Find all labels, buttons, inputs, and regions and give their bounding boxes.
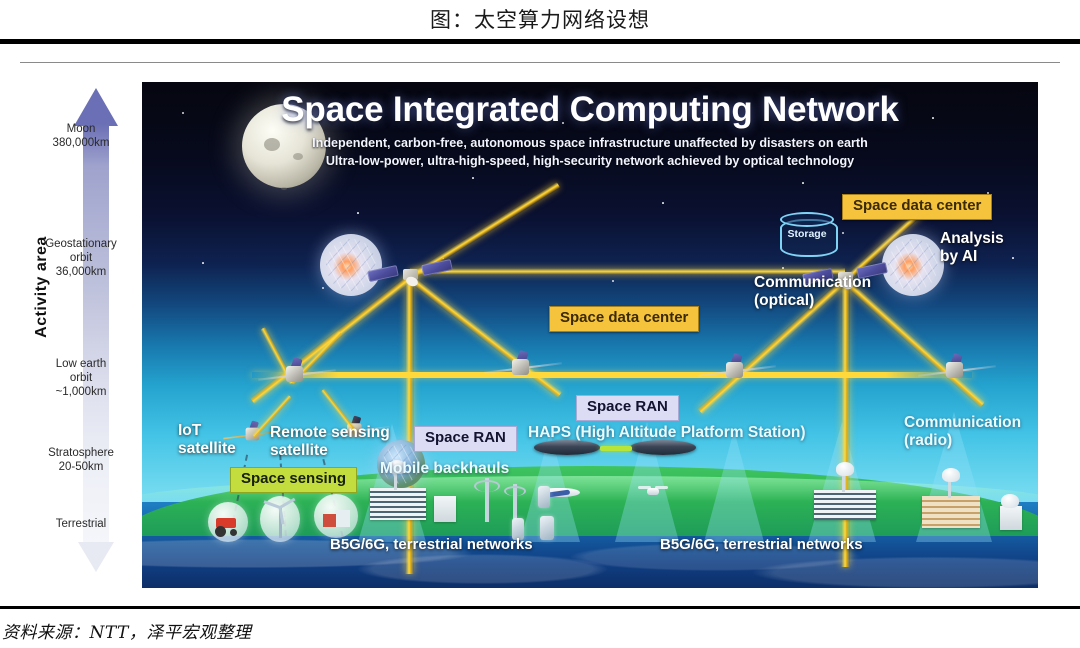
building-small — [1000, 506, 1022, 530]
divider-top-thin — [20, 62, 1060, 63]
axis-level-terrestrial-line1: Terrestrial — [20, 517, 142, 531]
factory-circle-icon — [314, 494, 358, 538]
source-note: 资料来源：NTT，泽平宏观整理 — [2, 618, 251, 643]
divider-bottom — [0, 606, 1080, 609]
optical-leo-ring-beam — [252, 372, 972, 378]
label-comm-radio-line2: (radio) — [904, 432, 1021, 450]
badge-space-ran-left[interactable]: Space RAN — [414, 426, 517, 452]
cell-tower-icon — [504, 482, 526, 522]
axis-level-strato-line2: 20-50km — [20, 460, 142, 474]
label-comm-radio-line1: Communication — [904, 414, 1021, 432]
axis-level-moon: Moon 380,000km — [20, 122, 142, 150]
axis-level-moon-line2: 380,000km — [20, 136, 142, 150]
storage-label: Storage — [780, 228, 834, 240]
label-comm-optical-line1: Communication — [754, 274, 871, 292]
axis-level-leo: Low earth orbit ~1,000km — [20, 357, 142, 399]
label-terrestrial-networks-left: B5G/6G, terrestrial networks — [330, 536, 533, 553]
label-communication-radio: Communication (radio) — [904, 414, 1021, 449]
building-right — [814, 490, 876, 520]
badge-space-ran-center[interactable]: Space RAN — [576, 395, 679, 421]
haps-airship-icon — [630, 440, 696, 455]
axis-level-leo-line1: Low earth — [20, 357, 142, 371]
cell-tower-icon — [474, 474, 500, 522]
axis-level-moon-line1: Moon — [20, 122, 142, 136]
divider-top-thick — [0, 39, 1080, 44]
haps-airship-icon — [534, 440, 600, 455]
building-right — [922, 496, 980, 528]
label-iot-line2: satellite — [178, 440, 236, 458]
storage-cylinder-icon: Storage — [780, 212, 834, 260]
smartphone-icon — [540, 516, 554, 540]
smartphone-icon — [538, 486, 550, 508]
axis-level-stratosphere: Stratosphere 20-50km — [20, 446, 142, 474]
activity-area-axis: Activity area Moon 380,000km Geostationa… — [20, 82, 142, 588]
scene-subtitle-2: Ultra-low-power, ultra-high-speed, high-… — [142, 154, 1038, 168]
optical-beam-vertical — [405, 274, 414, 574]
antenna-dome-icon — [836, 462, 854, 476]
illustration-frame: Storage — [142, 82, 1038, 588]
label-comm-optical-line2: (optical) — [754, 292, 871, 310]
label-iot-line1: IoT — [178, 422, 236, 440]
label-terrestrial-networks-right: B5G/6G, terrestrial networks — [660, 536, 863, 553]
label-analysis-by-ai: Analysis by AI — [940, 230, 1004, 265]
label-analysis-line2: by AI — [940, 248, 1004, 266]
badge-space-data-center-center[interactable]: Space data center — [549, 306, 699, 332]
axis-level-strato-line1: Stratosphere — [20, 446, 142, 460]
optical-beam-vertical — [841, 277, 850, 567]
label-remote-line2: satellite — [270, 442, 390, 460]
axis-level-geo-line3: 36,000km — [20, 265, 142, 279]
axis-gradient-bar — [83, 124, 109, 546]
label-mobile-backhauls: Mobile backhauls — [380, 460, 509, 478]
antenna-dome-icon — [942, 468, 960, 482]
label-remote-line1: Remote sensing — [270, 424, 390, 442]
building-left — [370, 488, 426, 520]
axis-level-geo-line2: orbit — [20, 251, 142, 265]
tractor-circle-icon — [208, 502, 248, 542]
building-small — [434, 496, 456, 522]
badge-space-sensing[interactable]: Space sensing — [230, 467, 357, 493]
axis-level-geo: Geostationary orbit 36,000km — [20, 237, 142, 279]
label-analysis-line1: Analysis — [940, 230, 1004, 248]
scene-headline: Space Integrated Computing Network — [142, 90, 1038, 130]
label-haps: HAPS (High Altitude Platform Station) — [528, 424, 806, 442]
figure-page: 图：太空算力网络设想 Activity area Moon 380,000km … — [0, 0, 1080, 648]
axis-level-geo-line1: Geostationary — [20, 237, 142, 251]
ai-brain-sphere-icon — [882, 234, 944, 296]
label-communication-optical: Communication (optical) — [754, 274, 871, 309]
axis-arrow-down-icon — [78, 542, 114, 572]
antenna-dome-icon — [1001, 494, 1019, 508]
axis-arrow-up-icon — [74, 88, 118, 126]
badge-space-data-center-right[interactable]: Space data center — [842, 194, 992, 220]
label-remote-sensing-satellite: Remote sensing satellite — [270, 424, 390, 459]
page-title: 图：太空算力网络设想 — [0, 4, 1080, 34]
haps-link-beam — [600, 446, 632, 451]
label-iot-satellite: IoT satellite — [178, 422, 236, 457]
wind-turbine-icon — [260, 496, 300, 542]
axis-level-leo-line3: ~1,000km — [20, 385, 142, 399]
scene-subtitle-1: Independent, carbon-free, autonomous spa… — [142, 136, 1038, 150]
axis-level-leo-line2: orbit — [20, 371, 142, 385]
ai-brain-sphere-icon — [320, 234, 382, 296]
axis-level-terrestrial: Terrestrial — [20, 517, 142, 531]
drone-icon — [638, 486, 668, 496]
